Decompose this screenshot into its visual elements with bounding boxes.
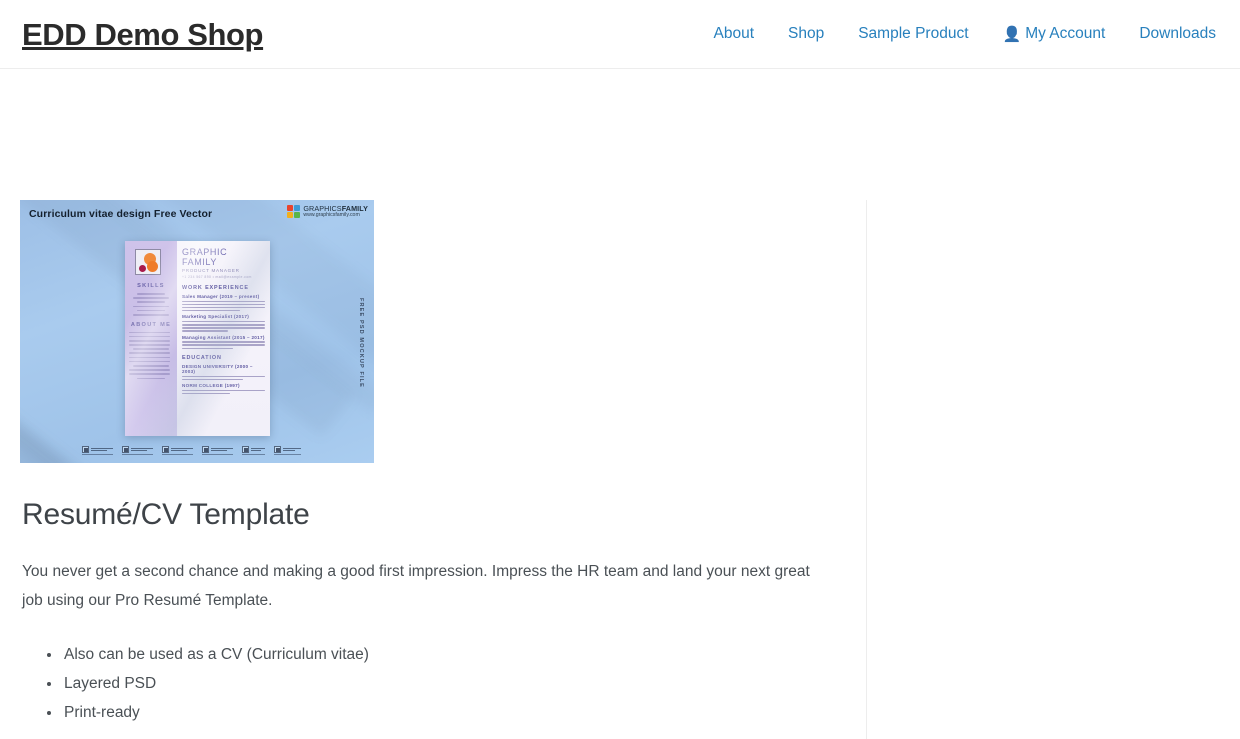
main-navigation: About Shop Sample Product 👤 My Account D…	[697, 26, 1219, 42]
list-item: Print-ready	[62, 699, 866, 728]
product-description: You never get a second chance and making…	[22, 558, 812, 615]
resume-section-experience: WORK EXPERIENCE	[182, 285, 265, 291]
feature-badge	[242, 446, 265, 455]
resume-job-3: Managing Assistant (2015 – 2017)	[182, 335, 265, 340]
nav-item-sample-product[interactable]: Sample Product	[841, 26, 985, 42]
page-content-wrapper: Curriculum vitae design Free Vector GRAP…	[0, 69, 1240, 739]
resume-section-about: ABOUT ME	[129, 322, 173, 328]
product-main-column: Curriculum vitae design Free Vector GRAP…	[0, 69, 866, 739]
image-feature-icon-strip	[82, 446, 301, 455]
feature-badge	[274, 446, 301, 455]
nav-item-shop[interactable]: Shop	[771, 26, 841, 42]
list-item: Layered PSD	[62, 670, 866, 699]
nav-item-downloads[interactable]: Downloads	[1122, 26, 1216, 42]
list-item: Also can be used as a CV (Curriculum vit…	[62, 641, 866, 670]
product-feature-list: Also can be used as a CV (Curriculum vit…	[20, 641, 866, 727]
resume-person-name: GRAPHIC FAMILY	[182, 247, 265, 267]
layers-icon	[122, 446, 129, 453]
watermark-brand-url: www.graphicsfamily.com	[303, 213, 368, 218]
nav-item-shop-label: Shop	[788, 26, 824, 42]
font-icon	[274, 446, 281, 453]
nav-item-about[interactable]: About	[697, 26, 772, 42]
user-silhouette-icon: 👤	[1003, 27, 1022, 42]
resume-education-2: NORM COLLEGE (1997)	[182, 383, 265, 388]
nav-item-sample-product-label: Sample Product	[858, 26, 968, 42]
product-featured-image[interactable]: Curriculum vitae design Free Vector GRAP…	[20, 200, 374, 463]
resume-section-education: EDUCATION	[182, 355, 265, 361]
resume-sidebar: SKILLS ABOUT ME	[125, 241, 177, 436]
feature-badge	[162, 446, 193, 455]
column-divider	[866, 200, 867, 739]
resize-icon	[162, 446, 169, 453]
feature-badge	[202, 446, 233, 455]
color-icon	[202, 446, 209, 453]
image-caption-text: Curriculum vitae design Free Vector	[29, 208, 212, 220]
feature-badge	[82, 446, 113, 455]
resume-person-role: PRODUCT MANAGER	[182, 268, 265, 273]
nav-item-about-label: About	[714, 26, 755, 42]
feature-badge	[122, 446, 153, 455]
nav-item-my-account[interactable]: 👤 My Account	[986, 26, 1123, 42]
image-vertical-tag: FREE PSD MOCKUP FILE	[358, 298, 364, 388]
resume-main-panel: GRAPHIC FAMILY PRODUCT MANAGER +1 234 56…	[177, 241, 270, 436]
resume-mockup-sheet: SKILLS ABOUT ME GRAPHIC FAMILY PRODUCT M…	[125, 241, 270, 436]
print-icon	[242, 446, 249, 453]
sidebar-column	[866, 69, 1240, 739]
graphicsfamily-watermark: GRAPHICSFAMILY www.graphicsfamily.com	[287, 205, 368, 218]
resume-job-1: Sales Manager (2019 – present)	[182, 294, 265, 299]
resume-education-1: DESIGN UNIVERSITY (2000 – 2003)	[182, 364, 265, 374]
product-title: Resumé/CV Template	[22, 497, 866, 533]
resume-person-contact: +1 234 567 890 • mail@example.com	[182, 275, 265, 279]
document-icon	[82, 446, 89, 453]
nav-item-downloads-label: Downloads	[1139, 26, 1216, 42]
site-title[interactable]: EDD Demo Shop	[22, 19, 263, 50]
graphicsfamily-logo-icon	[287, 205, 300, 218]
resume-section-skills: SKILLS	[129, 283, 173, 289]
site-header: EDD Demo Shop About Shop Sample Product …	[0, 0, 1240, 69]
nav-item-my-account-label: My Account	[1025, 26, 1105, 42]
resume-logo-icon	[135, 249, 161, 275]
resume-job-2: Marketing Specialist (2017)	[182, 314, 265, 319]
